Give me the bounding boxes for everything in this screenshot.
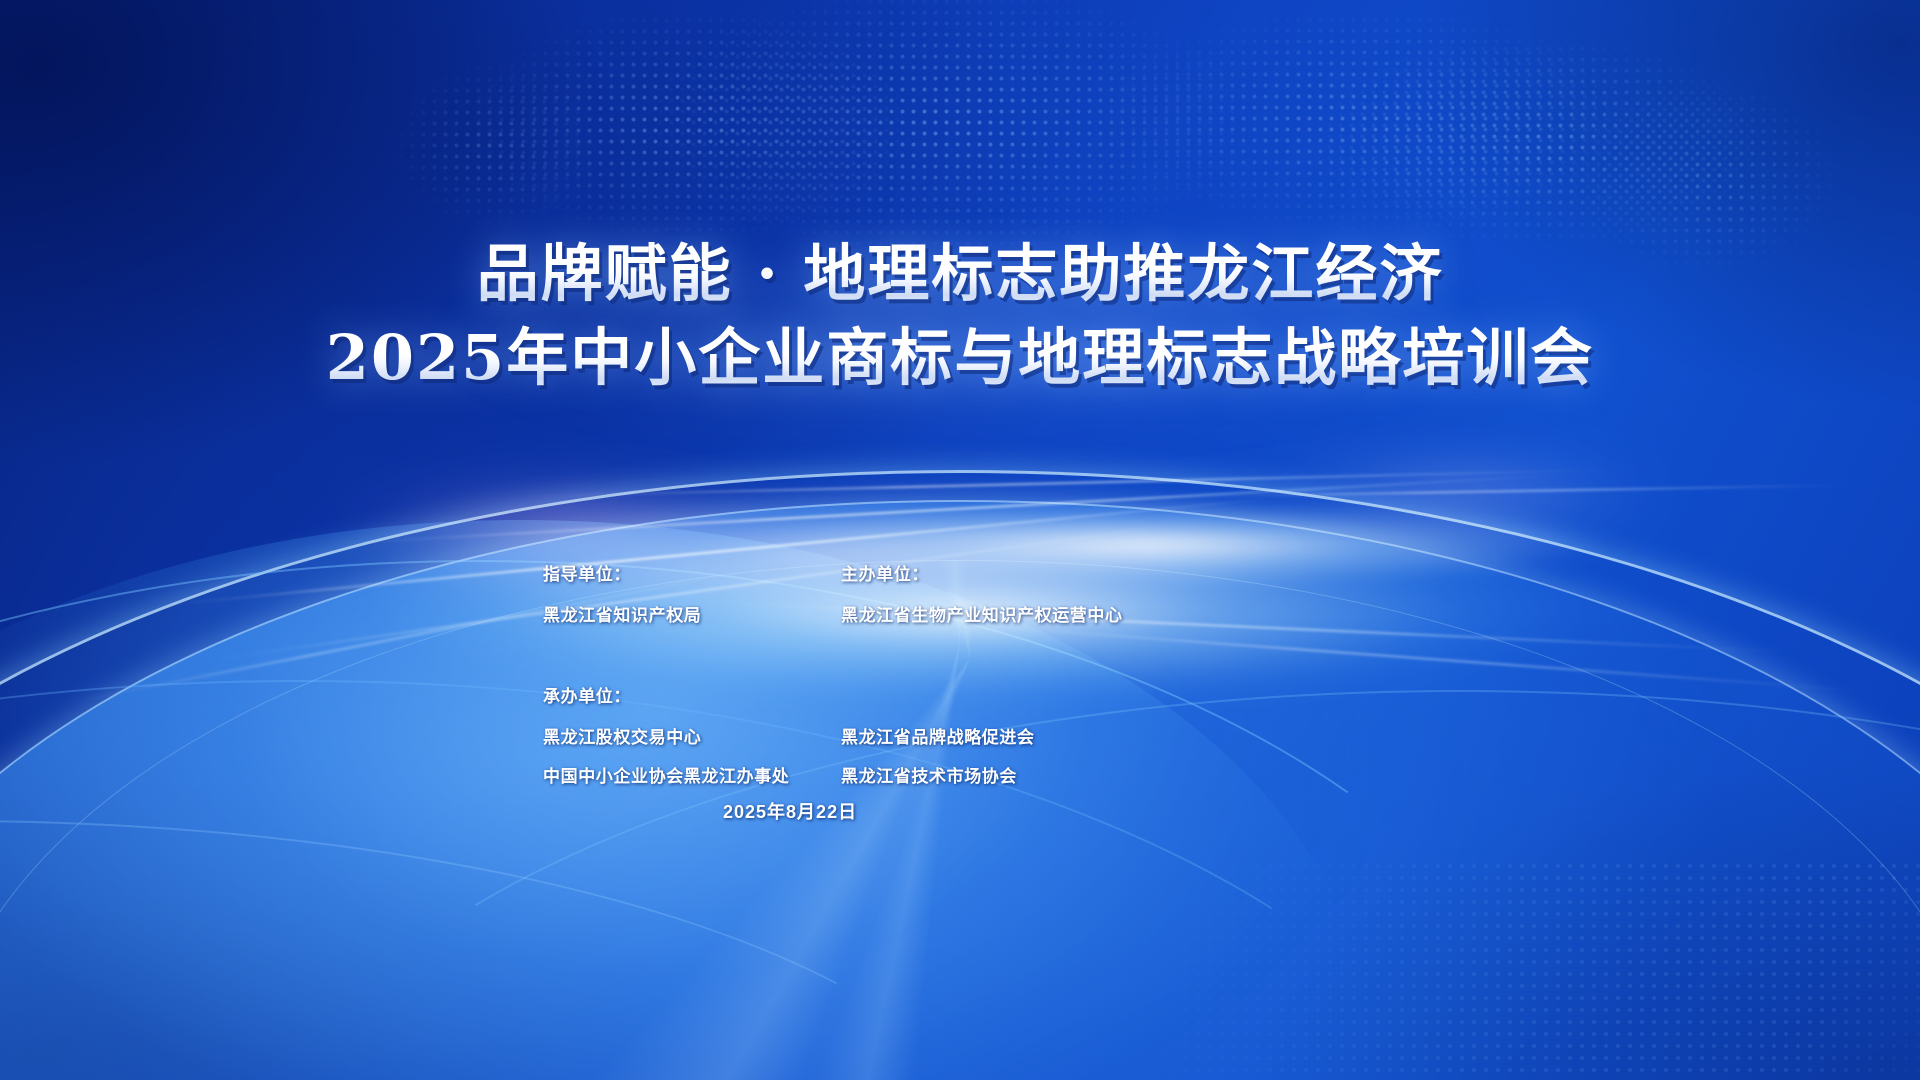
organizer-unit-name-4: 黑龙江省技术市场协会 [841, 762, 1303, 787]
event-date: 2025年8月22日 [723, 798, 857, 824]
conference-banner: 品牌赋能 · 地理标志助推龙江经济 2025年中小企业商标与地理标志战略培训会 … [0, 0, 1920, 1080]
banner-title-block: 品牌赋能 · 地理标志助推龙江经济 2025年中小企业商标与地理标志战略培训会 [0, 236, 1920, 395]
organizations-block: 指导单位： 主办单位： 黑龙江省知识产权局 黑龙江省生物产业知识产权运营中心 承… [543, 560, 1303, 801]
guidance-unit-name: 黑龙江省知识产权局 [543, 601, 841, 626]
guidance-unit-label: 指导单位： [543, 560, 841, 585]
organization-spacer [543, 640, 1303, 682]
organizer-unit-name-1: 黑龙江股权交易中心 [543, 723, 841, 748]
organization-heading-row-2: 承办单位： [543, 682, 1303, 723]
organizer-unit-name-2: 中国中小企业协会黑龙江办事处 [543, 762, 841, 787]
organizer-unit-label: 承办单位： [543, 682, 841, 707]
organization-name-row-2: 黑龙江股权交易中心 黑龙江省品牌战略促进会 [543, 723, 1303, 762]
host-unit-name: 黑龙江省生物产业知识产权运营中心 [841, 601, 1303, 626]
banner-title-line-1: 品牌赋能 · 地理标志助推龙江经济 [0, 236, 1920, 312]
organizer-label-spacer [841, 682, 1303, 707]
banner-title-line-2: 2025年中小企业商标与地理标志战略培训会 [0, 320, 1920, 396]
organization-name-row-3: 中国中小企业协会黑龙江办事处 黑龙江省技术市场协会 [543, 762, 1303, 801]
organizer-unit-name-3: 黑龙江省品牌战略促进会 [841, 723, 1303, 748]
organization-heading-row-1: 指导单位： 主办单位： [543, 560, 1303, 601]
host-unit-label: 主办单位： [841, 560, 1303, 585]
organization-name-row-1: 黑龙江省知识产权局 黑龙江省生物产业知识产权运营中心 [543, 601, 1303, 640]
